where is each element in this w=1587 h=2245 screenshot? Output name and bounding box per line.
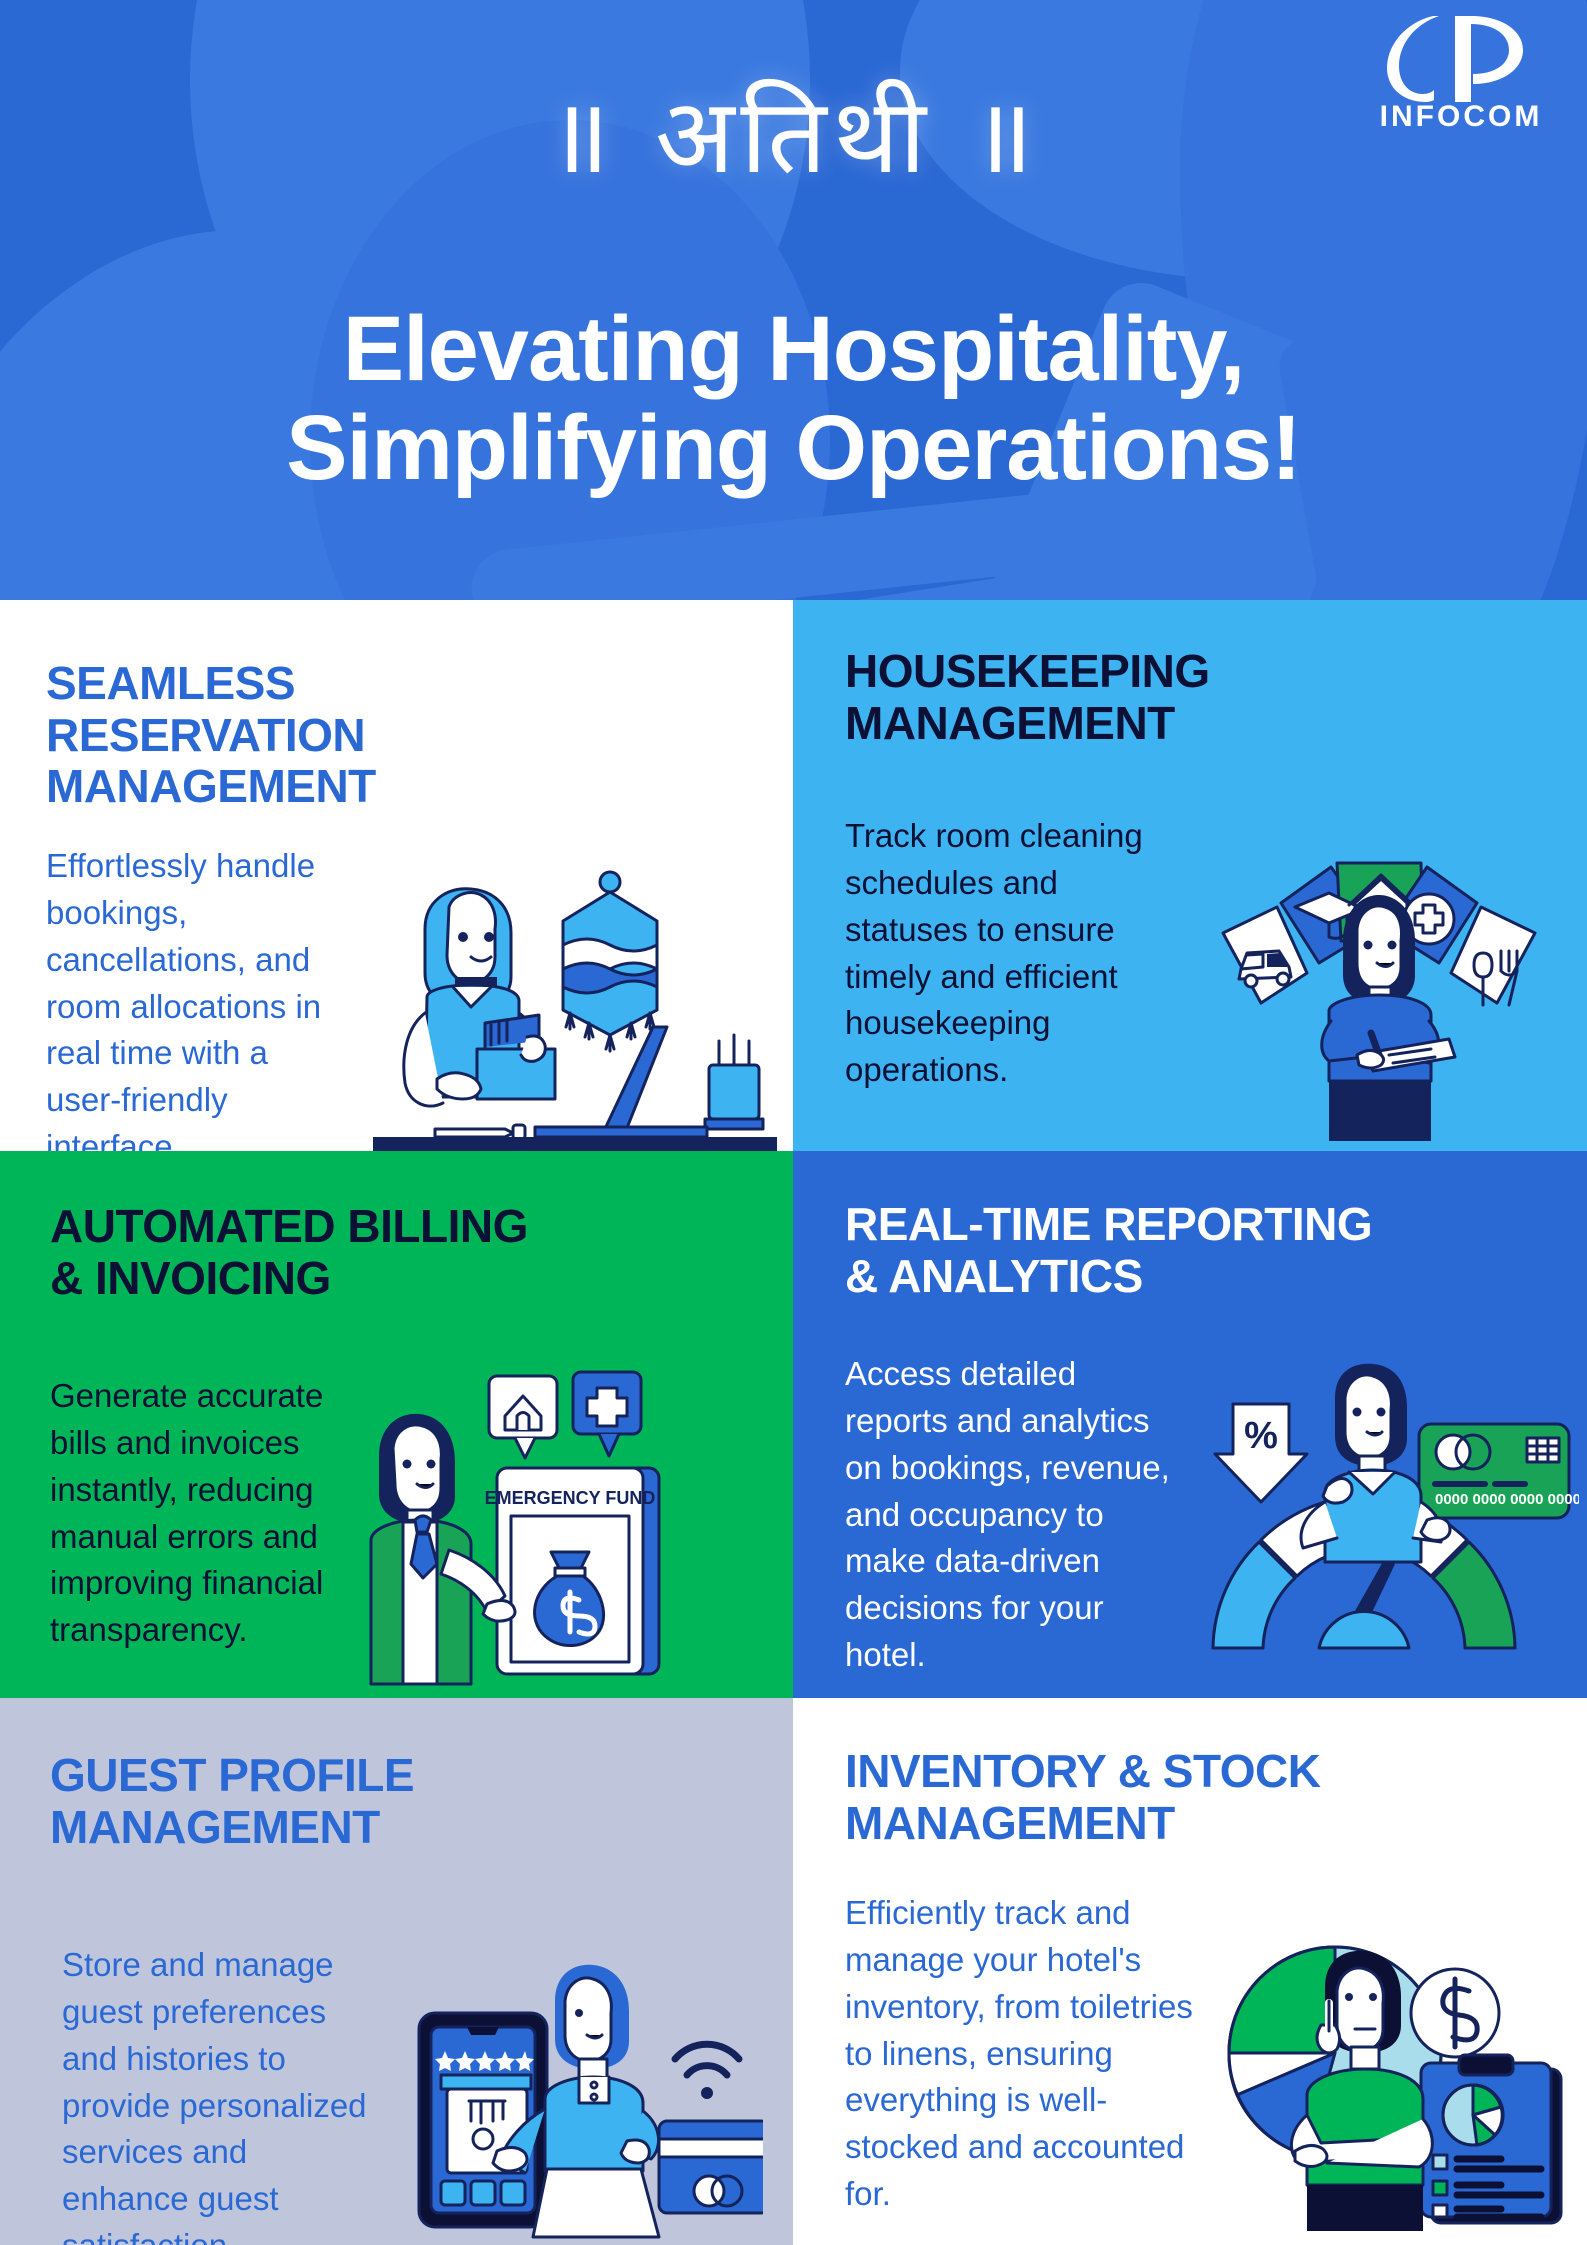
pen-cup-icon <box>705 1035 763 1129</box>
credit-card-icon: 0000 0000 0000 0000 <box>1419 1424 1579 1518</box>
poster-header: INFOCOM ॥ अतिथी ॥ Elevating Hospitality,… <box>0 0 1587 600</box>
billing-staff-figure <box>371 1414 515 1684</box>
card-automated-billing-invoicing[interactable]: AUTOMATED BILLING & INVOICING Generate a… <box>0 1151 793 1698</box>
card-title: SEAMLESS RESERVATION MANAGEMENT <box>46 658 376 813</box>
clipboard-icon <box>1421 2055 1561 2223</box>
percent-label: % <box>1244 1415 1278 1457</box>
emergency-fund-poster: EMERGENCY FUND <box>485 1468 659 1674</box>
poster-label: EMERGENCY FUND <box>485 1488 656 1508</box>
feature-card-grid: SEAMLESS RESERVATION MANAGEMENT Effortle… <box>0 600 1587 2245</box>
card-title: HOUSEKEEPING MANAGEMENT <box>845 646 1210 749</box>
card-body: Effortlessly handle bookings, cancellati… <box>46 843 346 1151</box>
dollar-coin-icon <box>1411 1969 1499 2057</box>
woman-with-clipboard-and-service-fan-illustration <box>1179 845 1579 1145</box>
card-title: GUEST PROFILE MANAGEMENT <box>50 1750 414 1853</box>
woman-with-gauge-and-credit-card-illustration: % <box>1179 1362 1579 1692</box>
headline-line-2: Simplifying Operations! <box>70 399 1517 498</box>
card-body: Efficiently track and manage your hotel'… <box>845 1890 1203 2218</box>
medical-cross-bubble-icon <box>573 1372 641 1456</box>
card-title: INVENTORY & STOCK MANAGEMENT <box>845 1746 1320 1849</box>
card-body: Access detailed reports and analytics on… <box>845 1351 1175 1679</box>
card-body: Store and manage guest preferences and h… <box>62 1942 372 2245</box>
laptop-icon <box>535 1027 707 1137</box>
card-body: Track room cleaning schedules and status… <box>845 813 1155 1094</box>
card-inventory-stock-management[interactable]: INVENTORY & STOCK MANAGEMENT Efficiently… <box>793 1698 1587 2245</box>
page-title: Elevating Hospitality, Simplifying Opera… <box>0 300 1587 499</box>
infographic-poster: INFOCOM ॥ अतिथी ॥ Elevating Hospitality,… <box>0 0 1587 2245</box>
card-title: REAL-TIME REPORTING & ANALYTICS <box>845 1199 1372 1302</box>
wifi-icon <box>675 2044 739 2098</box>
card-body: Generate accurate bills and invoices ins… <box>50 1373 350 1654</box>
credit-card-icon <box>659 2121 763 2213</box>
card-guest-profile-management[interactable]: GUEST PROFILE MANAGEMENT Store and manag… <box>0 1698 793 2245</box>
man-presenting-emergency-fund-illustration: EMERGENCY FUND <box>337 1368 757 1698</box>
card-housekeeping-management[interactable]: HOUSEKEEPING MANAGEMENT Track room clean… <box>793 600 1587 1151</box>
sanskrit-title: ॥ अतिथी ॥ <box>0 84 1587 188</box>
woman-tapping-phone-illustration <box>413 1941 763 2241</box>
percent-down-arrow-icon: % <box>1215 1404 1307 1502</box>
card-number: 0000 0000 0000 0000 <box>1435 1491 1579 1508</box>
card-title: AUTOMATED BILLING & INVOICING <box>50 1201 528 1304</box>
wall-hanging-icon <box>563 872 657 1051</box>
card-real-time-reporting-analytics[interactable]: REAL-TIME REPORTING & ANALYTICS Access d… <box>793 1151 1587 1698</box>
card-seamless-reservation-management[interactable]: SEAMLESS RESERVATION MANAGEMENT Effortle… <box>0 600 793 1151</box>
house-bubble-icon <box>489 1376 557 1458</box>
mini-pie-chart <box>1443 2085 1503 2145</box>
headline-line-1: Elevating Hospitality, <box>70 300 1517 399</box>
receptionist-with-card-index-and-laptop-illustration <box>367 845 787 1151</box>
man-with-pie-chart-and-clipboard-illustration <box>1211 1935 1581 2235</box>
receptionist-figure <box>404 889 555 1106</box>
